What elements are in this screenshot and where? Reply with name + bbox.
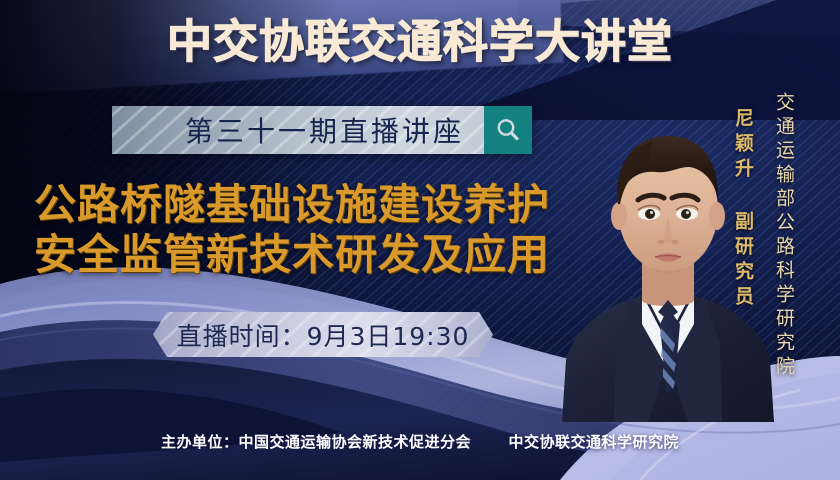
search-icon (494, 116, 522, 144)
footer-organizer: 主办单位：中国交通运输协会新技术促进分会 (161, 433, 471, 451)
lecture-title: 公路桥隧基础设施建设养护 安全监管新技术研发及应用 (34, 180, 594, 280)
footer: 主办单位：中国交通运输协会新技术促进分会 中交协联交通科学研究院 (0, 431, 840, 452)
session-label: 第三十一期直播讲座 (185, 110, 464, 150)
session-banner: 第三十一期直播讲座 (112, 106, 532, 154)
session-banner-text-area: 第三十一期直播讲座 (112, 106, 484, 154)
footer-institute: 中交协联交通科学研究院 (508, 433, 679, 451)
page-title: 中交协联交通科学大讲堂 (0, 14, 840, 70)
search-icon-block[interactable] (484, 106, 532, 154)
broadcast-time-badge: 直播时间：9月3日19:30 (153, 312, 493, 357)
lecture-title-line-2: 安全监管新技术研发及应用 (34, 230, 594, 280)
livestream-poster: 中交协联交通科学大讲堂 第三十一期直播讲座 公路桥隧基础设施建设养护 安全监管新… (0, 0, 840, 480)
lecture-title-line-1: 公路桥隧基础设施建设养护 (34, 180, 594, 230)
speaker-portrait (556, 92, 780, 422)
broadcast-time-text: 直播时间：9月3日19:30 (177, 317, 470, 353)
